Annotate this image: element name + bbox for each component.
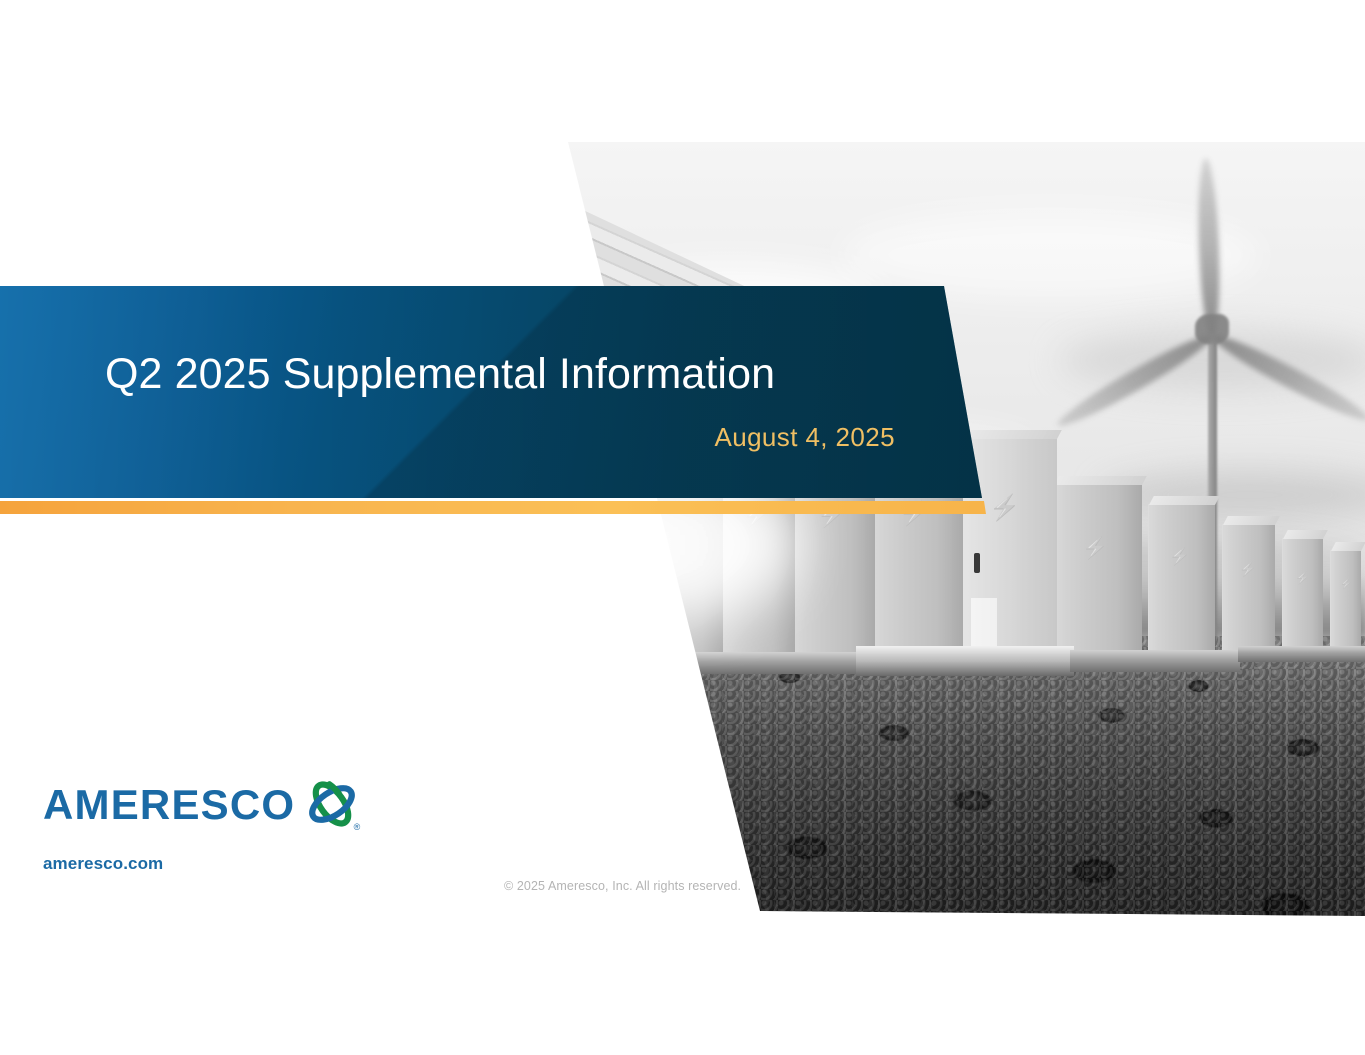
title-slide: ⚡ ⚡ ⚡ ⚡ ⚡ ⚡	[0, 0, 1365, 1055]
registered-trademark-symbol: ®	[354, 822, 361, 832]
cabinet-plinth	[856, 646, 1074, 676]
hero-image: ⚡ ⚡ ⚡ ⚡ ⚡ ⚡	[0, 0, 1365, 1055]
wind-turbine-blade	[1196, 158, 1222, 337]
battery-cabinet: ⚡	[1053, 484, 1142, 656]
wind-turbine-blade	[1053, 327, 1217, 433]
cabinet-door-handle	[974, 553, 980, 573]
page-title: Q2 2025 Supplemental Information	[105, 352, 895, 397]
cabinet-plinth	[1070, 650, 1240, 672]
battery-cabinet: ⚡	[1148, 504, 1215, 654]
lightning-bolt-icon: ⚡	[989, 496, 1020, 521]
battery-cabinet: ⚡	[1330, 550, 1361, 654]
accent-bar	[0, 501, 986, 514]
logo-row: AMERESCO ®	[43, 776, 361, 834]
copyright-notice: © 2025 Ameresco, Inc. All rights reserve…	[504, 879, 741, 893]
cabinet-plinth	[1238, 646, 1365, 662]
ameresco-orbit-icon: ®	[305, 776, 361, 834]
website-link[interactable]: ameresco.com	[43, 854, 361, 874]
ameresco-wordmark: AMERESCO	[43, 784, 295, 826]
lightning-bolt-icon: ⚡	[1295, 572, 1310, 584]
lightning-bolt-icon: ⚡	[1340, 580, 1352, 590]
gravel-texture	[540, 636, 1365, 920]
lightning-bolt-icon: ⚡	[1239, 562, 1256, 576]
cabinet-plinth	[644, 652, 860, 674]
battery-cabinet: ⚡	[1282, 538, 1323, 654]
cabinet-door-panel	[971, 598, 997, 646]
battery-cabinet: ⚡	[1222, 524, 1275, 654]
lightning-bolt-icon: ⚡	[1082, 538, 1108, 559]
presentation-date: August 4, 2025	[105, 422, 895, 453]
hero-image-canvas: ⚡ ⚡ ⚡ ⚡ ⚡ ⚡	[540, 140, 1365, 920]
lightning-bolt-icon: ⚡	[1169, 548, 1190, 565]
brand-logo[interactable]: AMERESCO ® ameresco.com	[43, 776, 361, 874]
wind-turbine-blade	[1207, 327, 1365, 428]
